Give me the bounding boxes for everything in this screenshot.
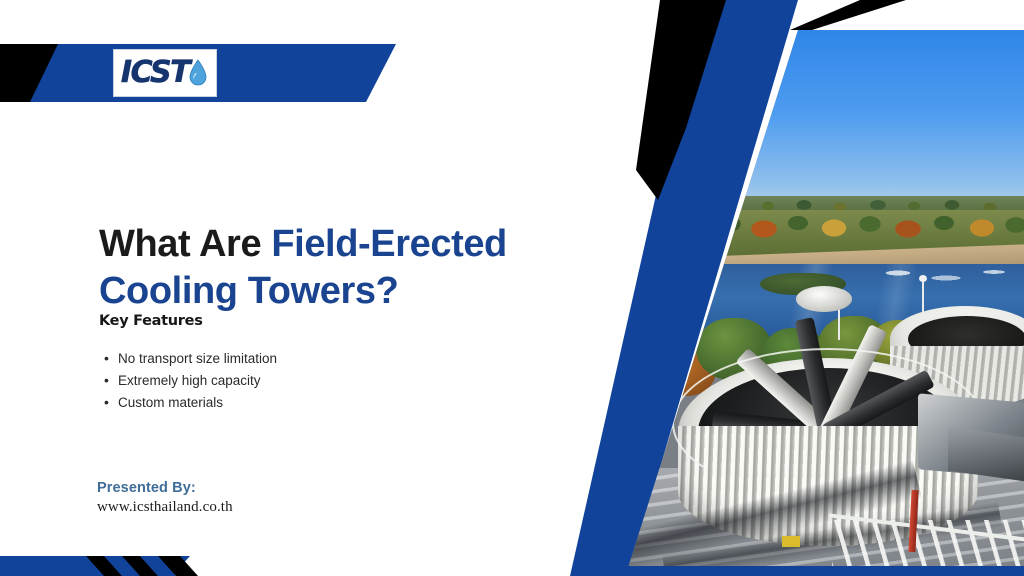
features-heading: Key Features	[99, 313, 203, 329]
list-item: No transport size limitation	[118, 348, 448, 370]
footer-chevron-3	[122, 556, 158, 576]
brand-wordmark: ICST	[121, 58, 189, 88]
features-list: No transport size limitation Extremely h…	[99, 348, 448, 414]
list-item: Custom materials	[118, 392, 448, 414]
hero-photo	[622, 28, 1024, 570]
brand-logo[interactable]: ICST	[113, 49, 217, 97]
footer-blue-bar	[0, 556, 190, 576]
footer-chevron-5	[158, 556, 198, 576]
photo-yellow-marker	[782, 536, 800, 547]
footer-chevron-1	[86, 556, 122, 576]
website-url[interactable]: www.icsthailand.co.th	[97, 499, 233, 516]
footer-chevron-4	[140, 556, 176, 576]
footer-chevron-2	[104, 556, 140, 576]
photo-bottom-accent-strip	[628, 566, 1024, 576]
presented-by-label: Presented By:	[97, 480, 196, 496]
water-drop-icon	[187, 58, 209, 88]
photo-sky	[622, 28, 1024, 218]
black-diagonal-stripe	[636, 0, 726, 200]
title-part-blue-2: Cooling Towers?	[99, 270, 398, 312]
presentation-slide: ICST What Are Field-Erected Cooling Towe…	[0, 0, 1024, 576]
header-black-wedge	[0, 44, 58, 102]
list-item: Extremely high capacity	[118, 370, 448, 392]
black-corner-sliver	[790, 0, 906, 30]
page-title: What Are Field-Erected Cooling Towers?	[99, 221, 569, 314]
title-part-blue-1: Field-Erected	[271, 223, 507, 265]
photo-rapids	[872, 266, 1024, 288]
title-part-dark: What Are	[99, 223, 271, 265]
photo-fan-hub	[796, 286, 852, 312]
photo-light-pole	[648, 358, 650, 402]
